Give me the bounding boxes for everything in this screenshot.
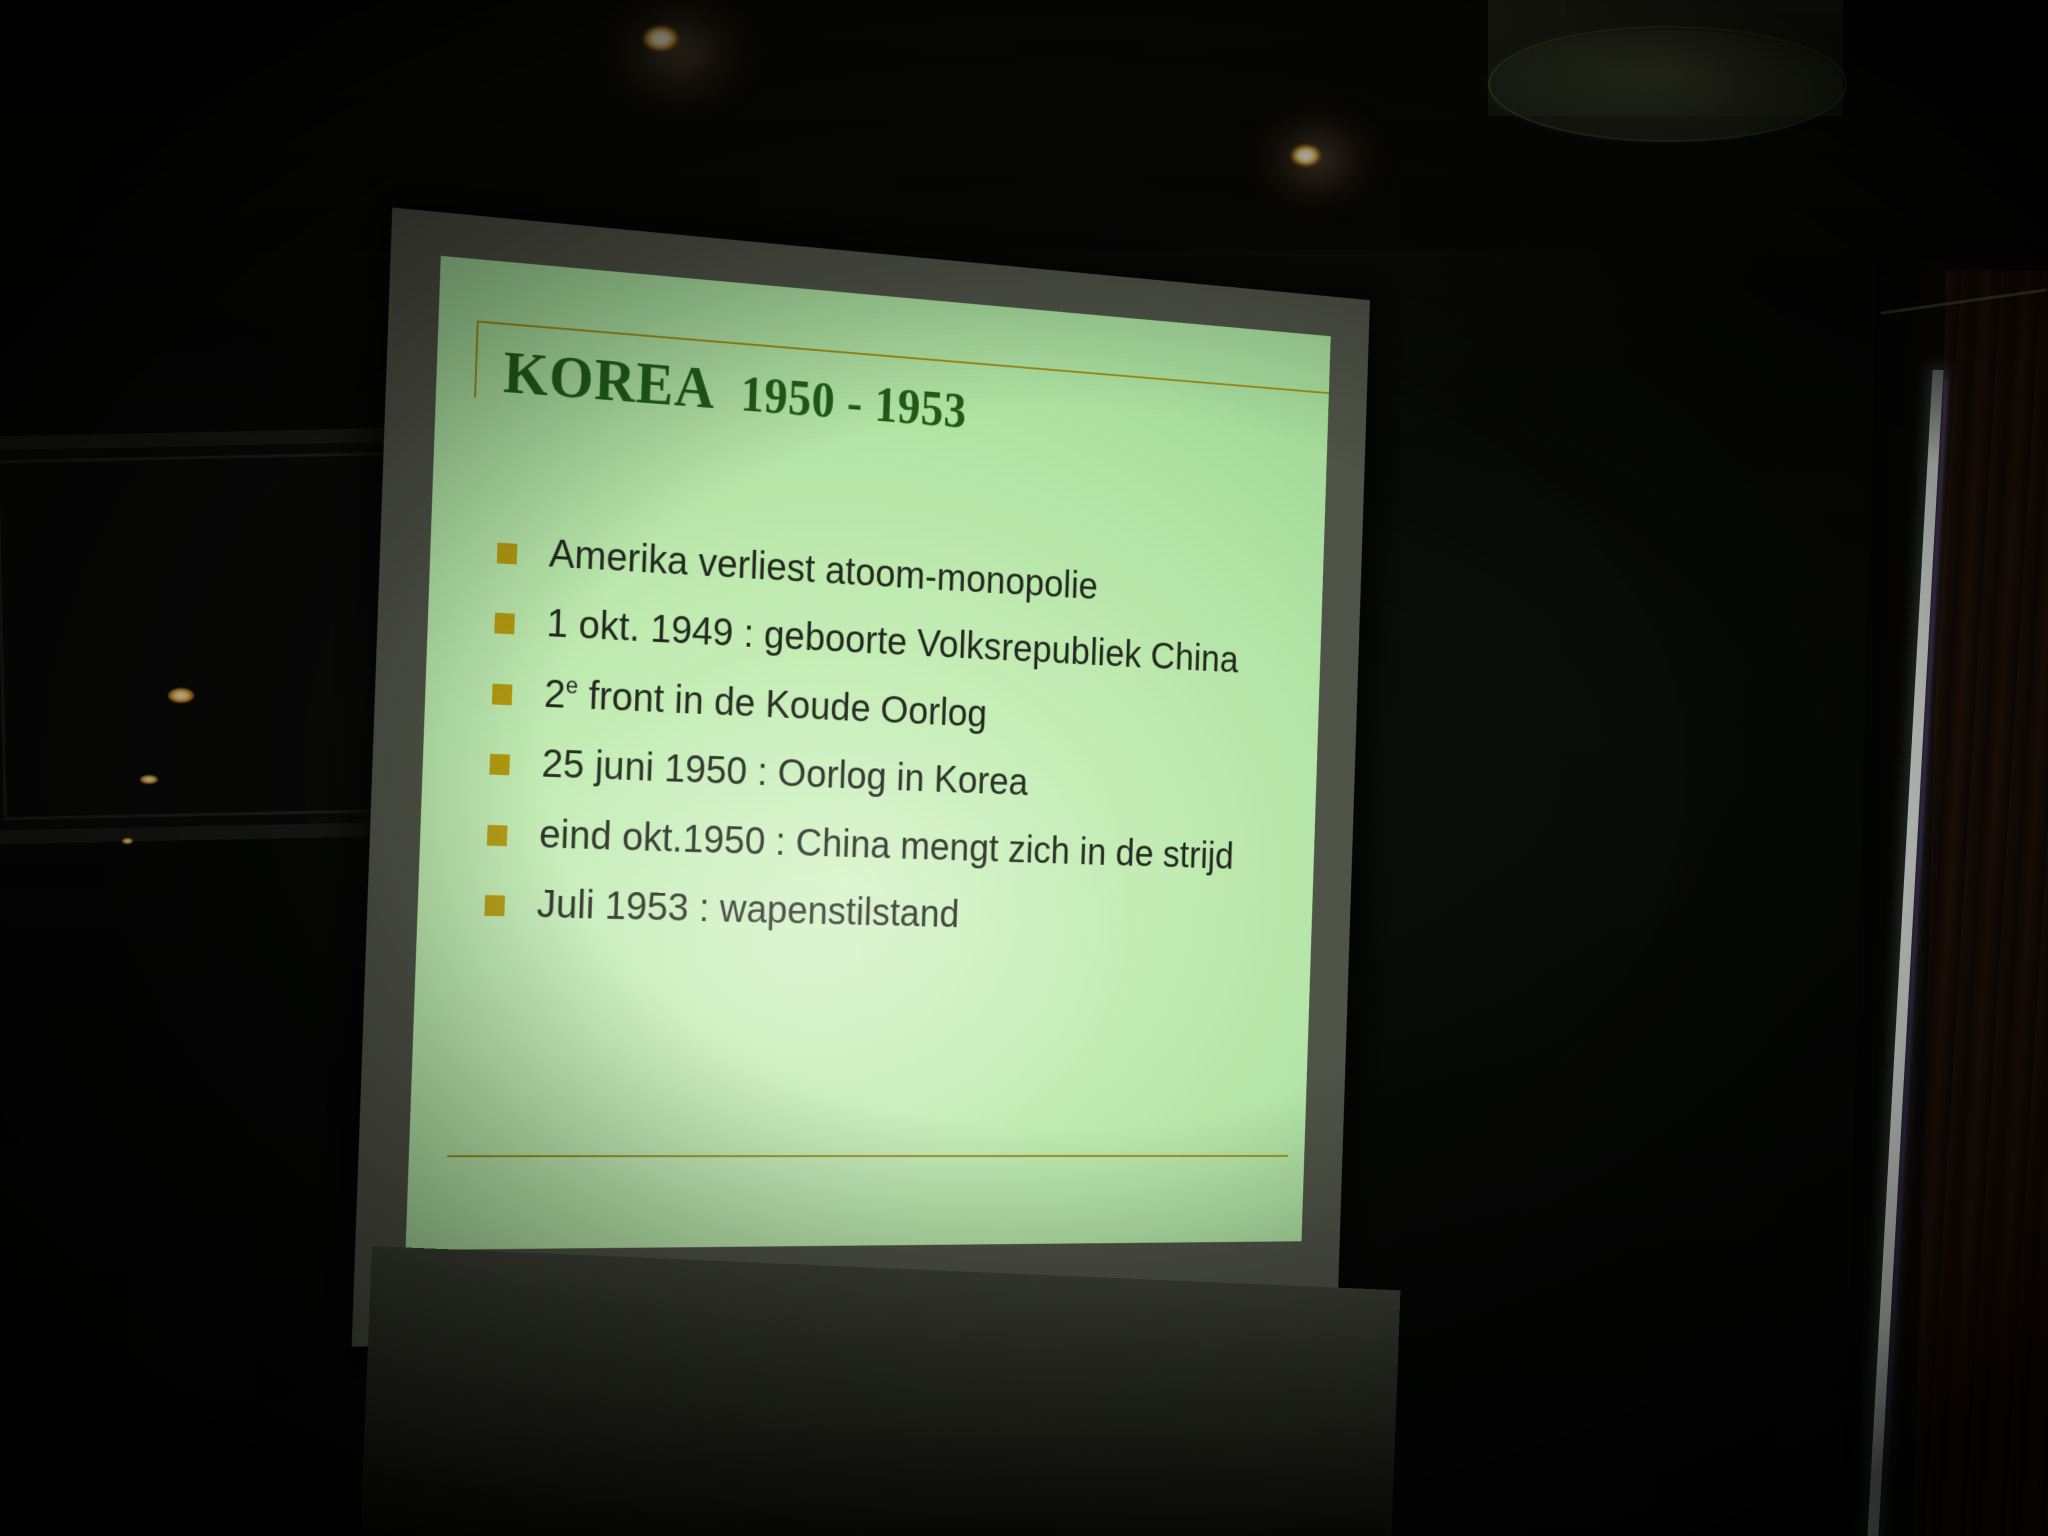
slide-bullet-list: Amerika verliest atoom-monopolie 1 okt. … [483, 526, 1307, 966]
projection-screen-apron [360, 1246, 1401, 1536]
bullet-ordinal-rest: front in de Koude Oorlog [577, 672, 988, 735]
slide-title-years: 1950 - 1953 [740, 366, 968, 440]
slide-title-main: KOREA [502, 339, 716, 424]
square-bullet-icon [492, 683, 513, 705]
bullet-ordinal-number: 2 [543, 670, 566, 716]
reflection-light-2-icon [140, 775, 158, 784]
list-item: eind okt.1950 : China mengt zich in de s… [487, 808, 1299, 880]
bullet-text: 25 juni 1950 : Oorlog in Korea [541, 739, 1029, 805]
square-bullet-icon [484, 895, 505, 916]
reflection-light-3-icon [122, 838, 133, 844]
bullet-text: Juli 1953 : wapenstilstand [536, 880, 960, 937]
slide-rule-bottom [447, 1155, 1288, 1157]
bullet-text-ordinal: 2e front in de Koude Oorlog [543, 669, 987, 736]
bullet-text: Amerika verliest atoom-monopolie [548, 529, 1098, 609]
slide-rule-left [474, 321, 479, 398]
ceiling-spot-left-icon [642, 25, 680, 52]
square-bullet-icon [494, 613, 515, 635]
bullet-ordinal-suffix: e [565, 673, 578, 700]
pendant-lamp-rim [1488, 26, 1847, 142]
projection-screen: KOREA 1950 - 1953 Amerika verliest atoom… [352, 208, 1370, 1347]
bullet-text: 1 okt. 1949 : geboorte Volksrepubliek Ch… [546, 599, 1239, 682]
ceiling-spot-center-icon [1290, 144, 1322, 167]
list-item: Juli 1953 : wapenstilstand [484, 878, 1296, 944]
photo-scene: KOREA 1950 - 1953 Amerika verliest atoom… [0, 0, 2048, 1536]
wall-picture-frame-inner [0, 452, 414, 821]
slide-title: KOREA 1950 - 1953 [502, 339, 967, 443]
reflection-light-1-icon [168, 688, 194, 703]
square-bullet-icon [497, 543, 518, 565]
square-bullet-icon [489, 754, 510, 775]
list-item: 25 juni 1950 : Oorlog in Korea [489, 737, 1301, 815]
presentation-slide: KOREA 1950 - 1953 Amerika verliest atoom… [406, 256, 1331, 1250]
square-bullet-icon [487, 824, 508, 845]
bullet-text: eind okt.1950 : China mengt zich in de s… [538, 809, 1234, 877]
